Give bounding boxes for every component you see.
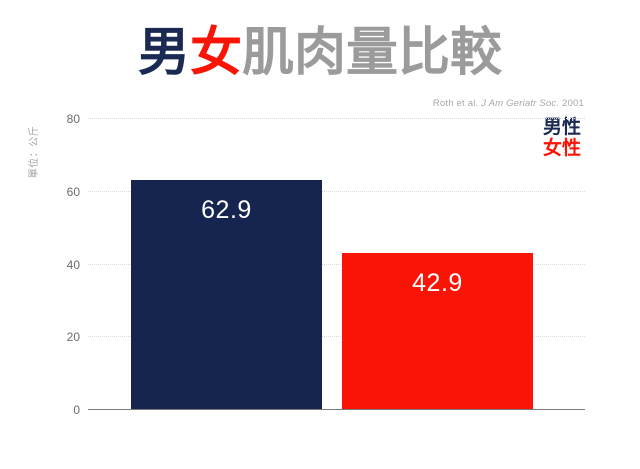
gridline-80: 80 — [88, 118, 585, 119]
page-title: 男女肌肉量比較 — [0, 22, 640, 84]
y-tick-label-0: 0 — [73, 403, 80, 417]
bar-male: 62.9 — [131, 180, 322, 409]
bar-value-male: 62.9 — [131, 196, 322, 225]
y-axis-unit-text: 單位：公斤 — [25, 107, 40, 197]
chart-canvas: 男女肌肉量比較 Roth et al. J Am Geriatr Soc. 20… — [0, 0, 640, 469]
x-axis-baseline: 0 — [88, 409, 585, 410]
citation: Roth et al. J Am Geriatr Soc. 2001 — [433, 98, 584, 109]
bar-female: 42.9 — [342, 253, 533, 409]
title-segment-rest: 肌肉量比較 — [242, 24, 502, 82]
bar-value-female: 42.9 — [342, 269, 533, 298]
y-tick-label-40: 40 — [67, 258, 80, 272]
citation-journal: J Am Geriatr Soc. — [481, 98, 559, 109]
title-segment-female: 女 — [190, 24, 242, 82]
y-tick-label-60: 60 — [67, 185, 80, 199]
title-segment-male: 男 — [138, 24, 190, 82]
y-tick-label-20: 20 — [67, 330, 80, 344]
plot-area: 80 60 40 20 0 62.9 42.9 — [88, 118, 585, 409]
y-tick-label-80: 80 — [67, 112, 80, 126]
citation-year: 2001 — [562, 98, 584, 109]
citation-authors: Roth et al. — [433, 98, 479, 109]
y-axis-unit-label: 單位：公斤 — [21, 17, 36, 107]
